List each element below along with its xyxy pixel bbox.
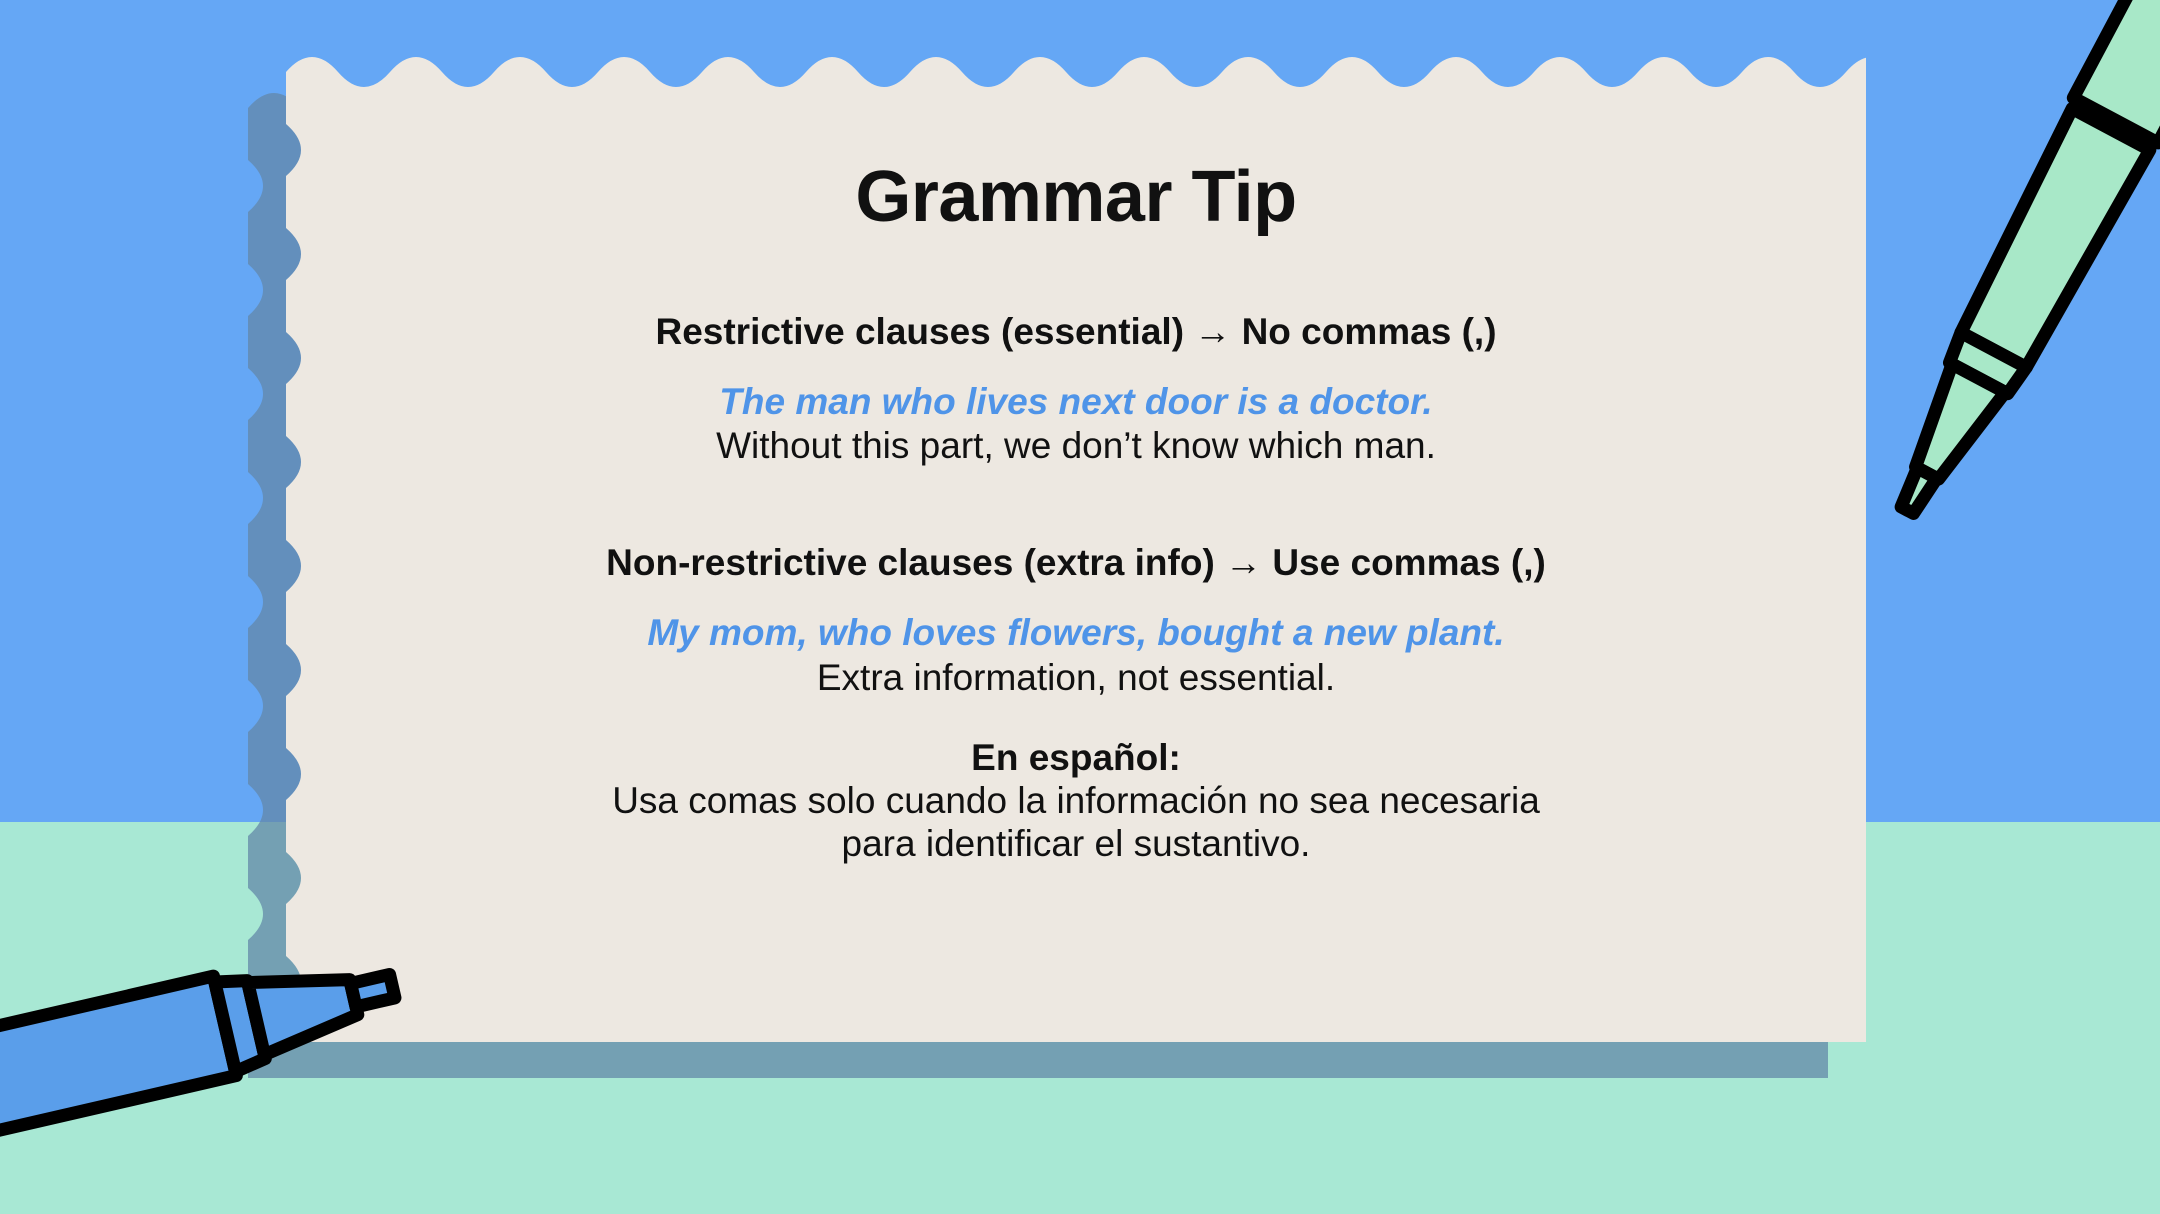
spanish-line-2: para identificar el sustantivo.	[382, 823, 1770, 866]
spacer	[382, 354, 1770, 380]
explanation-nonrestrictive: Extra information, not essential.	[382, 656, 1770, 700]
page-title: Grammar Tip	[382, 160, 1770, 236]
spanish-line-1: Usa comas solo cuando la información no …	[382, 780, 1770, 823]
poster-canvas: Grammar Tip Restrictive clauses (essenti…	[0, 0, 2160, 1214]
spacer	[382, 700, 1770, 736]
example-restrictive: The man who lives next door is a doctor.	[382, 380, 1770, 424]
rule-heading-nonrestrictive: Non-restrictive clauses (extra info) → U…	[382, 541, 1770, 585]
spanish-section-heading: En español:	[382, 736, 1770, 780]
rule-heading-restrictive: Restrictive clauses (essential) → No com…	[382, 310, 1770, 354]
explanation-restrictive: Without this part, we don’t know which m…	[382, 424, 1770, 468]
spacer	[382, 469, 1770, 541]
example-nonrestrictive: My mom, who loves flowers, bought a new …	[382, 611, 1770, 655]
card-content: Grammar Tip Restrictive clauses (essenti…	[286, 42, 1866, 1042]
spacer	[382, 585, 1770, 611]
